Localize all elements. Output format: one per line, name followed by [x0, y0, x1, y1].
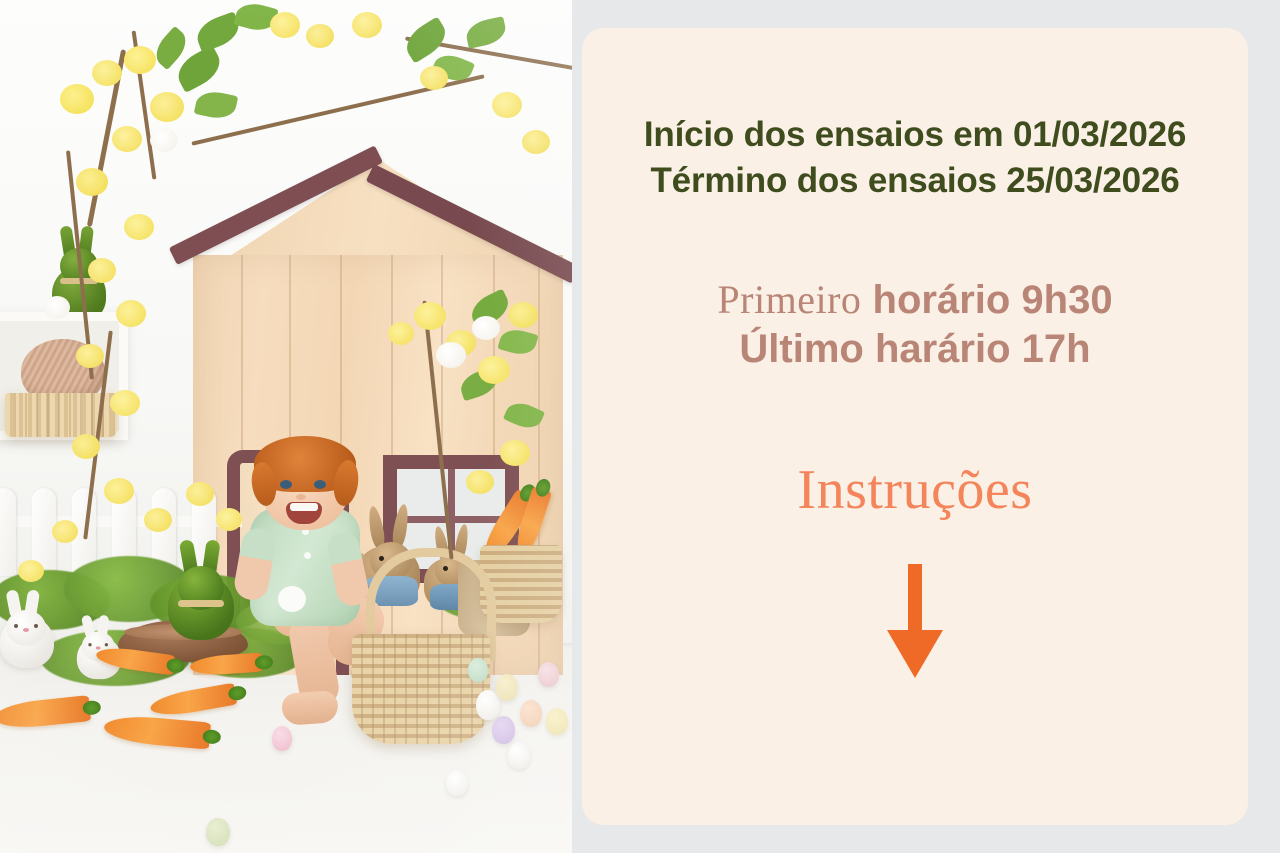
floor-egg: [446, 770, 468, 796]
bunny-collar: [178, 600, 224, 607]
moss-bunny-figurine: [160, 540, 238, 640]
floor-egg: [546, 708, 568, 735]
child-eye-right: [314, 480, 326, 489]
child-foot: [281, 690, 339, 726]
white-plush-bunny: [0, 592, 58, 668]
arrow-down-icon: [883, 564, 947, 676]
easter-photo: [0, 0, 572, 853]
first-time-line: Primeiro horário 9h30: [717, 276, 1112, 325]
session-end-date: Término dos ensaios 25/03/2026: [644, 158, 1186, 204]
floor-egg: [496, 674, 518, 701]
first-time-value: horário 9h30: [873, 278, 1113, 322]
floor-egg: [206, 818, 230, 846]
floor-egg: [492, 716, 515, 744]
floor-egg: [468, 658, 488, 682]
instructions-heading: Instruções: [797, 462, 1032, 518]
easter-basket: [352, 634, 490, 744]
session-dates-block: Início dos ensaios em 01/03/2026 Término…: [644, 112, 1186, 204]
floor-egg: [538, 662, 559, 687]
floor-egg: [272, 726, 292, 751]
first-time-label: Primeiro: [717, 277, 861, 322]
white-egg-in-hand: [278, 586, 306, 612]
info-panel: Início dos ensaios em 01/03/2026 Término…: [582, 28, 1248, 825]
floor-egg: [520, 700, 542, 727]
last-time-line: Último harário 17h: [717, 325, 1112, 374]
poster-canvas: Início dos ensaios em 01/03/2026 Término…: [0, 0, 1280, 853]
child-eye-left: [280, 480, 292, 489]
session-times-block: Primeiro horário 9h30 Último harário 17h: [717, 276, 1112, 374]
session-start-date: Início dos ensaios em 01/03/2026: [644, 112, 1186, 158]
floor-egg: [508, 742, 530, 769]
